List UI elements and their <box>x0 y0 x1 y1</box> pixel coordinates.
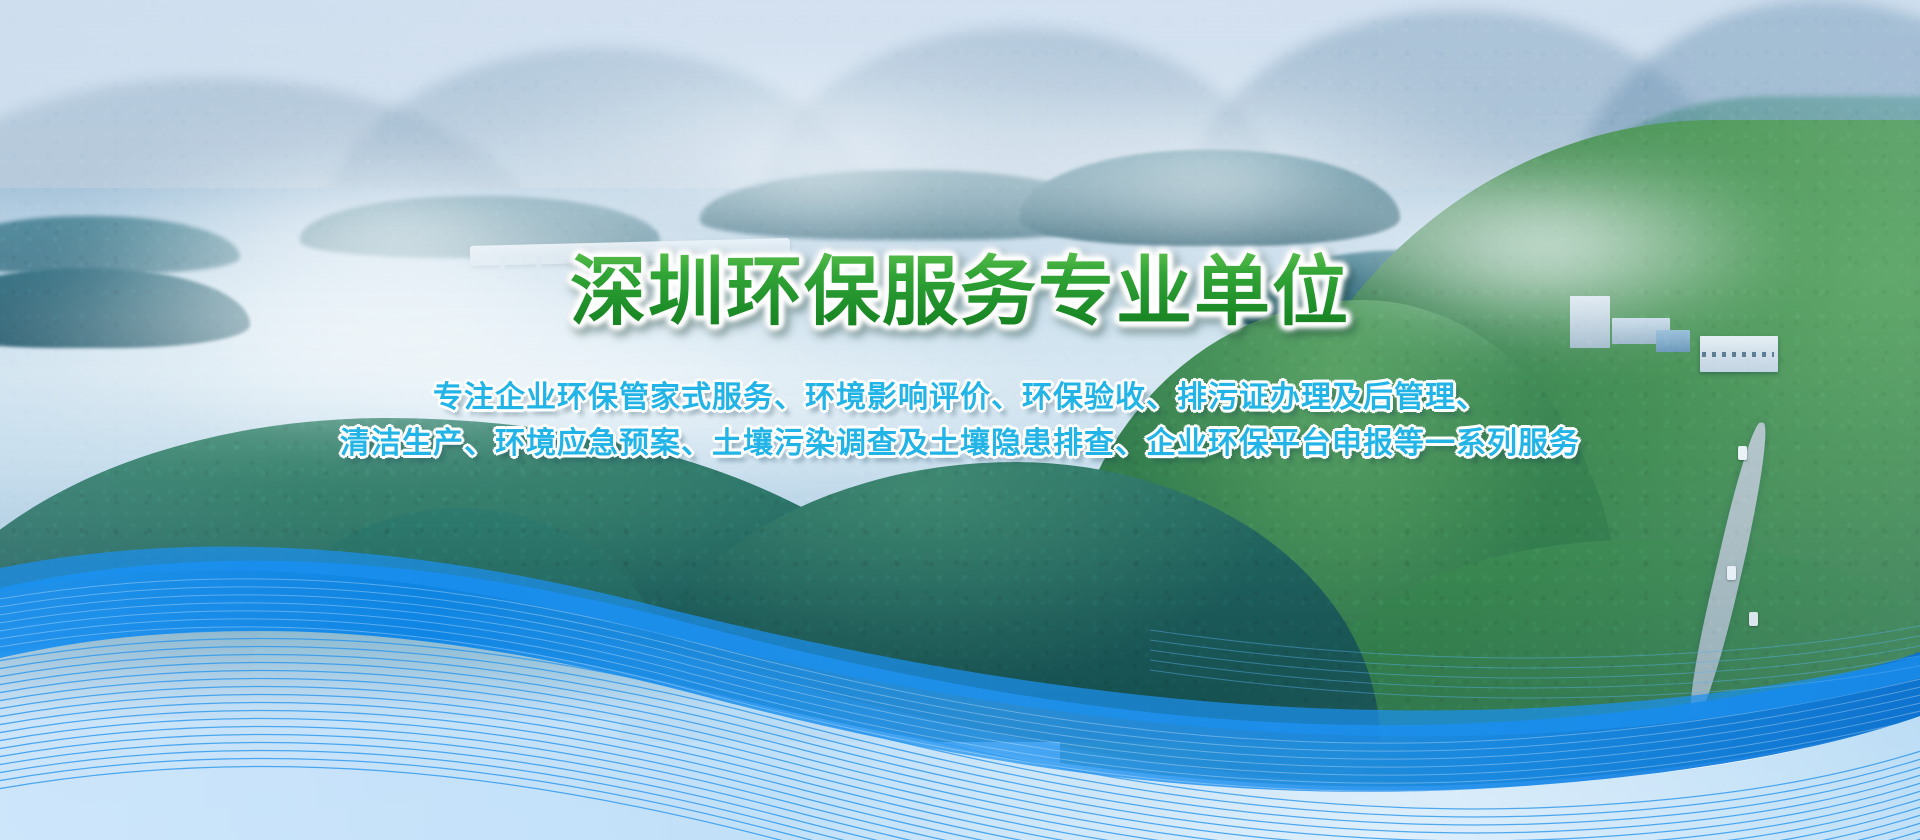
vehicle-icon <box>1749 612 1758 626</box>
building-windows <box>1702 352 1774 357</box>
hero-subtitle-line-1: 专注企业环保管家式服务、环境影响评价、环保验收、排污证办理及后管理、 <box>0 375 1920 421</box>
page-title: 深圳环保服务专业单位 <box>570 252 1350 331</box>
vehicle-icon <box>1727 566 1736 580</box>
hero-subtitle: 专注企业环保管家式服务、环境影响评价、环保验收、排污证办理及后管理、 清洁生产、… <box>0 375 1920 466</box>
hero-subtitle-line-2: 清洁生产、环境应急预案、土壤污染调查及土壤隐患排查、企业环保平台申报等一系列服务 <box>0 421 1920 467</box>
hero-banner: 深圳环保服务专业单位 专注企业环保管家式服务、环境影响评价、环保验收、排污证办理… <box>0 0 1920 840</box>
hillside-building-icon <box>1656 330 1690 352</box>
fog-bank <box>1280 150 1800 340</box>
